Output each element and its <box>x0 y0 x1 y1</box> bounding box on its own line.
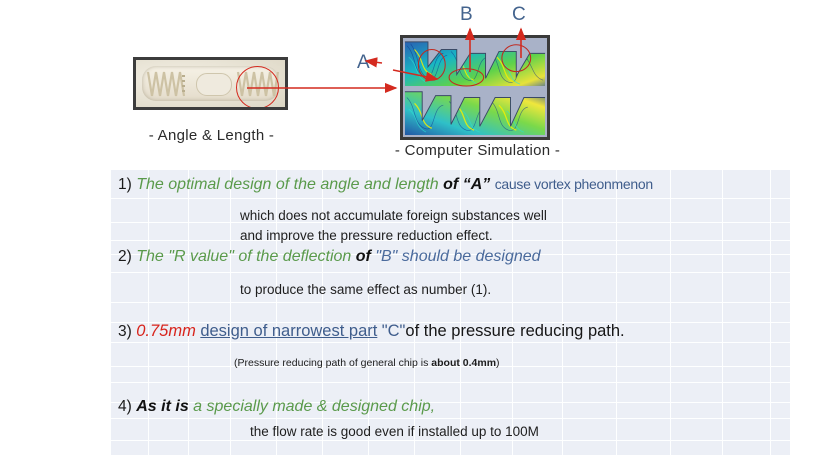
note-3-red-text: 0.75mm <box>136 322 196 340</box>
note-item-3: 3) 0.75mm design of narrowest part "C"of… <box>118 322 625 341</box>
simulation-canvas <box>403 38 547 139</box>
note-4-sub-1: the flow rate is good even if installed … <box>250 424 539 439</box>
note-4-green-text: a specially made & designed chip, <box>193 398 435 415</box>
notes-sheet: 1) The optimal design of the angle and l… <box>110 170 820 455</box>
note-3-note-bold: about 0.4mm <box>431 357 496 369</box>
label-a: A <box>357 52 370 74</box>
note-3-quoted-text: "C" <box>382 322 406 340</box>
chip-dot-column <box>182 75 185 93</box>
label-c: C <box>512 4 526 26</box>
photo-highlight-circle <box>236 66 279 109</box>
left-figure-caption: - Angle & Length - <box>124 127 299 144</box>
note-3-number: 3) <box>118 323 132 340</box>
note-2-blue-text: "B" should be designed <box>375 248 540 265</box>
note-2-sub-1: to produce the same effect as number (1)… <box>240 282 491 297</box>
note-1-sub-1: which does not accumulate foreign substa… <box>240 208 547 223</box>
note-4-number: 4) <box>118 398 132 415</box>
note-3-underlined-text: design of narrowest part <box>200 322 377 340</box>
note-3-parenthetical: (Pressure reducing path of general chip … <box>234 357 500 369</box>
simulation-image <box>400 35 550 140</box>
chip-chamber-oval <box>196 73 232 96</box>
note-item-2: 2) The "R value" of the deflection of "B… <box>118 248 541 266</box>
figure-area: - Angle & Length - <box>0 0 820 168</box>
label-b: B <box>460 4 473 26</box>
chip-photo <box>133 57 288 110</box>
note-item-4: 4) As it is a specially made & designed … <box>118 398 435 416</box>
note-3-note-prefix: (Pressure reducing path of general chip … <box>234 357 431 369</box>
note-1-number: 1) <box>118 176 132 193</box>
note-2-black-text: of <box>356 248 371 265</box>
note-2-green-text: The "R value" of the deflection <box>136 248 351 265</box>
right-figure-caption: - Computer Simulation - <box>390 142 565 159</box>
note-1-black-text: of “A” <box>443 176 490 193</box>
note-item-1: 1) The optimal design of the angle and l… <box>118 176 653 194</box>
notes-list: 1) The optimal design of the angle and l… <box>110 170 820 455</box>
note-1-blue-text: cause vortex pheonmenon <box>495 176 653 192</box>
note-3-note-suffix: ) <box>496 357 500 369</box>
note-3-black-text: of the pressure reducing path. <box>405 322 624 340</box>
slide-canvas: - Angle & Length - <box>0 0 820 461</box>
note-4-black-italic-text: As it is <box>136 398 188 415</box>
note-1-sub-2: and improve the pressure reduction effec… <box>240 228 493 243</box>
note-1-green-text: The optimal design of the angle and leng… <box>136 176 438 193</box>
note-2-number: 2) <box>118 248 132 265</box>
